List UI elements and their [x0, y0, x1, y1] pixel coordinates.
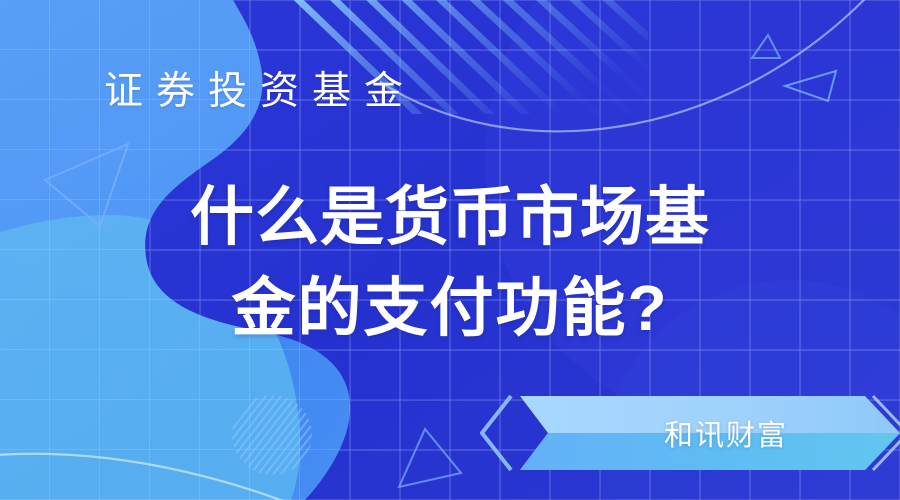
- brand-ribbon: 和讯财富: [480, 392, 900, 474]
- poster-headline: 什么是货币市场基 金的支付功能?: [0, 172, 900, 354]
- poster-canvas: 证券投资基金 什么是货币市场基 金的支付功能?: [0, 0, 900, 500]
- headline-line-1: 什么是货币市场基: [60, 172, 840, 263]
- headline-line-2: 金的支付功能?: [60, 263, 840, 354]
- poster-subtitle: 证券投资基金: [104, 72, 416, 111]
- brand-label: 和讯财富: [576, 392, 876, 474]
